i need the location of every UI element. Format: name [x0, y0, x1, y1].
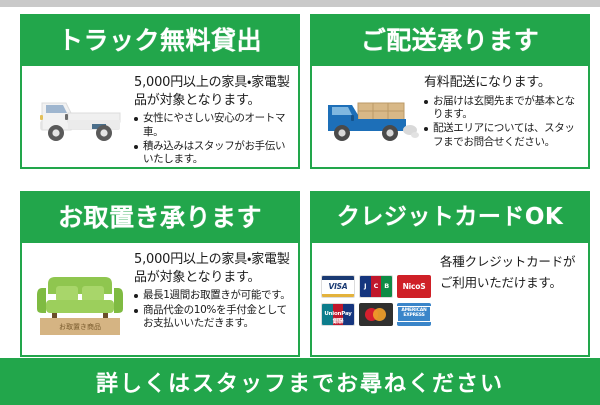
panel-header-truck-rental: トラック無料貸出: [20, 14, 300, 66]
panel-grid: トラック無料貸出: [20, 14, 580, 346]
card-logo-grid: VISA J C B NicoS: [321, 275, 431, 326]
panel-truck-rental: トラック無料貸出: [20, 14, 300, 180]
panel-body-delivery: 有料配送になります。 お届けは玄関先までが基本となります。 配送エリアについては…: [310, 66, 590, 169]
unionpay-card-icon: UnionPay 銀聯: [321, 303, 355, 326]
list-item: お届けは玄関先までが基本となります。: [424, 95, 582, 122]
nicos-label: NicoS: [403, 282, 426, 291]
white-truck-icon: [28, 87, 132, 149]
panel-credit-card: クレジットカードOK VISA J C B: [310, 191, 590, 357]
panel-copy-truck-rental: 5,000円以上の家具・家電製品が対象となります。 女性にやさしい安心のオートマ…: [132, 72, 292, 168]
jcb-segment-b: B: [381, 276, 392, 297]
jcb-card-icon: J C B: [359, 275, 393, 298]
amex-label: AMERICAN EXPRESS: [397, 306, 431, 321]
list-item: 配送エリアについては、スタッフまでお問合せください。: [424, 122, 582, 149]
panel-header-delivery: ご配送承ります: [310, 14, 590, 66]
footer-text: 詳しくはスタッフまでお尋ねください: [96, 366, 504, 398]
panel-body-layaway: お取置き商品 5,000円以上の家具・家電製品が対象となります。 最長1週間お取…: [20, 243, 300, 357]
panel-lead-layaway: 5,000円以上の家具・家電製品が対象となります。: [134, 251, 292, 286]
list-item: 女性にやさしい安心のオートマ車。: [134, 112, 292, 139]
panel-copy-delivery: 有料配送になります。 お届けは玄関先までが基本となります。 配送エリアについては…: [422, 72, 582, 150]
panel-layaway: お取置き承ります お取置き商品: [20, 191, 300, 357]
panel-body-credit-card: VISA J C B NicoS: [310, 243, 590, 357]
panel-header-credit-card: クレジットカードOK: [310, 191, 590, 243]
panel-delivery: ご配送承ります: [310, 14, 590, 180]
list-item: 商品代金の10%を手付金としてお支払いいただきます。: [134, 304, 292, 331]
list-item: 最長1週間お取置きが可能です。: [134, 289, 292, 302]
visa-label: VISA: [328, 282, 347, 291]
amex-card-icon: AMERICAN EXPRESS: [397, 303, 431, 326]
footer-banner: 詳しくはスタッフまでお尋ねください: [0, 358, 600, 405]
panel-copy-credit-card: 各種クレジットカードが ご利用いただけます。: [434, 249, 582, 294]
panel-bullets-truck-rental: 女性にやさしい安心のオートマ車。 積み込みはスタッフがお手伝いいたします。: [134, 112, 292, 167]
green-sofa-icon: お取置き商品: [28, 262, 132, 338]
jcb-segment-j: J: [360, 276, 371, 297]
credit-card-copy-line2: ご利用いただけます。: [436, 272, 582, 293]
panel-copy-layaway: 5,000円以上の家具・家電製品が対象となります。 最長1週間お取置きが可能です…: [132, 249, 292, 331]
sofa-platform-label: お取置き商品: [59, 322, 101, 331]
panel-body-truck-rental: 5,000円以上の家具・家電製品が対象となります。 女性にやさしい安心のオートマ…: [20, 66, 300, 169]
jcb-segment-c: C: [371, 276, 382, 297]
blue-delivery-truck-icon: [318, 87, 422, 149]
panel-bullets-layaway: 最長1週間お取置きが可能です。 商品代金の10%を手付金としてお支払いいただきま…: [134, 289, 292, 330]
panel-bullets-delivery: お届けは玄関先までが基本となります。 配送エリアについては、スタッフまでお問合せ…: [424, 95, 582, 150]
panel-title-credit-card: クレジットカードOK: [337, 206, 563, 229]
panel-lead-truck-rental: 5,000円以上の家具・家電製品が対象となります。: [134, 74, 292, 109]
nicos-card-icon: NicoS: [397, 275, 431, 298]
panel-header-layaway: お取置き承ります: [20, 191, 300, 243]
unionpay-label: UnionPay 銀聯: [322, 311, 354, 325]
credit-card-copy-line1: 各種クレジットカードが: [436, 251, 582, 272]
panel-lead-delivery: 有料配送になります。: [424, 74, 582, 92]
panel-title-layaway: お取置き承ります: [58, 205, 262, 230]
poster-root: トラック無料貸出: [0, 0, 600, 405]
panel-title-truck-rental: トラック無料貸出: [58, 28, 262, 53]
mastercard-card-icon: MasterCard: [359, 303, 393, 326]
mastercard-circle-orange: [373, 308, 386, 321]
credit-card-logos: VISA J C B NicoS: [318, 275, 434, 326]
list-item: 積み込みはスタッフがお手伝いいたします。: [134, 140, 292, 167]
visa-card-icon: VISA: [321, 275, 355, 298]
panel-title-delivery: ご配送承ります: [361, 28, 540, 53]
top-strip: [0, 0, 600, 7]
